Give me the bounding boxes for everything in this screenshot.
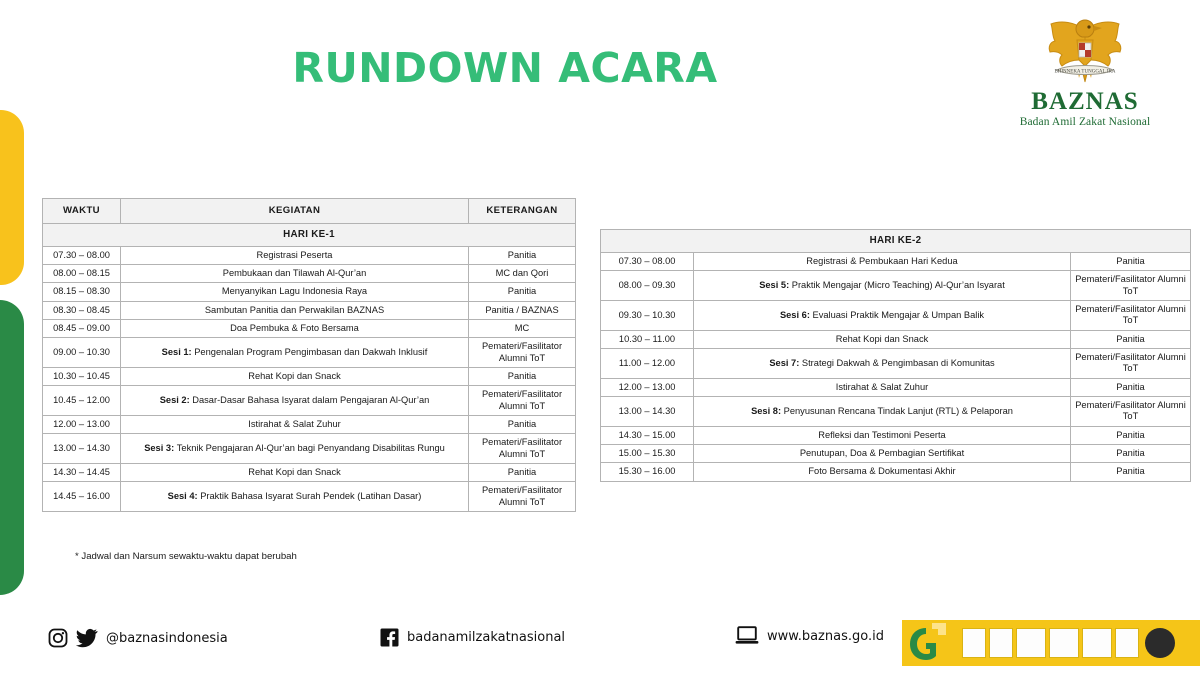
cell-kegiatan: Istirahat & Salat Zuhur [694, 378, 1071, 396]
baznas-logo: BHINNEKA TUNGGAL IKA BAZNAS Badan Amil Z… [1010, 14, 1160, 128]
table-row: 10.45 – 12.00Sesi 2: Dasar-Dasar Bahasa … [43, 386, 576, 416]
garuda-emblem-icon: BHINNEKA TUNGGAL IKA [1039, 14, 1131, 88]
cell-keterangan: Pemateri/Fasilitator Alumni ToT [469, 338, 576, 368]
cell-kegiatan: Sesi 2: Dasar-Dasar Bahasa Isyarat dalam… [121, 386, 469, 416]
session-label: Sesi 4: [168, 491, 201, 501]
svg-text:BHINNEKA TUNGGAL IKA: BHINNEKA TUNGGAL IKA [1054, 70, 1115, 75]
cert-chip-1 [962, 628, 986, 658]
footer-instagram-handle: @baznasindonesia [106, 631, 228, 646]
cell-waktu: 10.30 – 11.00 [601, 330, 694, 348]
cell-keterangan: Pemateri/Fasilitator Alumni ToT [469, 482, 576, 512]
cell-kegiatan: Sesi 3: Teknik Pengajaran Al-Qur’an bagi… [121, 434, 469, 464]
cell-keterangan: Pemateri/Fasilitator Alumni ToT [1071, 271, 1191, 301]
cell-waktu: 08.00 – 09.30 [601, 271, 694, 301]
cell-keterangan: Panitia [469, 283, 576, 301]
table-row: 08.00 – 08.15Pembukaan dan Tilawah Al-Qu… [43, 264, 576, 282]
cell-waktu: 13.00 – 14.30 [601, 396, 694, 426]
cell-kegiatan: Registrasi Peserta [121, 246, 469, 264]
cell-kegiatan: Penutupan, Doa & Pembagian Sertifikat [694, 444, 1071, 462]
cell-waktu: 15.00 – 15.30 [601, 444, 694, 462]
cell-keterangan: Panitia [1071, 444, 1191, 462]
table-row: 13.00 – 14.30Sesi 3: Teknik Pengajaran A… [43, 434, 576, 464]
table-row: 10.30 – 11.00Rehat Kopi dan SnackPanitia [601, 330, 1191, 348]
table-row: 13.00 – 14.30Sesi 8: Penyusunan Rencana … [601, 396, 1191, 426]
table-row: 10.30 – 10.45Rehat Kopi dan SnackPanitia [43, 367, 576, 385]
cell-keterangan: Panitia [469, 463, 576, 481]
cell-waktu: 10.45 – 12.00 [43, 386, 121, 416]
rundown-table-day1: WAKTU KEGIATAN KETERANGAN HARI KE-1 07.3… [42, 198, 576, 512]
cell-keterangan: Panitia [469, 246, 576, 264]
cell-waktu: 12.00 – 13.00 [43, 415, 121, 433]
cell-waktu: 15.30 – 16.00 [601, 463, 694, 481]
cell-waktu: 09.00 – 10.30 [43, 338, 121, 368]
cell-keterangan: Panitia [1071, 252, 1191, 270]
slide-canvas: RUNDOWN ACARA BHINNEKA TUNGGAL IKA BAZNA… [0, 0, 1200, 675]
cell-waktu: 07.30 – 08.00 [43, 246, 121, 264]
cell-kegiatan: Pembukaan dan Tilawah Al-Qur’an [121, 264, 469, 282]
audited-seal-icon [1145, 628, 1175, 658]
session-label: Sesi 7: [769, 358, 802, 368]
logo-brand-text: BAZNAS [1010, 89, 1160, 115]
cert-chip-3 [1016, 628, 1046, 658]
cell-kegiatan: Refleksi dan Testimoni Peserta [694, 426, 1071, 444]
cell-kegiatan: Sambutan Panitia dan Perwakilan BAZNAS [121, 301, 469, 319]
cell-kegiatan: Sesi 7: Strategi Dakwah & Pengimbasan di… [694, 348, 1071, 378]
cell-waktu: 14.45 – 16.00 [43, 482, 121, 512]
table-row: 12.00 – 13.00Istirahat & Salat ZuhurPani… [601, 378, 1191, 396]
table-row: 07.30 – 08.00Registrasi & Pembukaan Hari… [601, 252, 1191, 270]
cell-kegiatan: Menyanyikan Lagu Indonesia Raya [121, 283, 469, 301]
cell-waktu: 11.00 – 12.00 [601, 348, 694, 378]
cell-keterangan: MC [469, 319, 576, 337]
cell-keterangan: Pemateri/Fasilitator Alumni ToT [1071, 348, 1191, 378]
cell-keterangan: MC dan Qori [469, 264, 576, 282]
table-row: 14.30 – 15.00Refleksi dan Testimoni Pese… [601, 426, 1191, 444]
day-label-day1: HARI KE-1 [43, 223, 576, 246]
session-label: Sesi 8: [751, 406, 784, 416]
decorative-yellow-shape [0, 110, 24, 285]
certification-chips [958, 628, 1139, 658]
table-row: 15.00 – 15.30Penutupan, Doa & Pembagian … [601, 444, 1191, 462]
cell-waktu: 14.30 – 14.45 [43, 463, 121, 481]
cell-keterangan: Pemateri/Fasilitator Alumni ToT [1071, 300, 1191, 330]
day-label-row: HARI KE-2 [601, 230, 1191, 253]
cell-keterangan: Panitia [469, 367, 576, 385]
cell-kegiatan: Sesi 8: Penyusunan Rencana Tindak Lanjut… [694, 396, 1071, 426]
page-title: RUNDOWN ACARA [0, 44, 1010, 92]
g-logo-icon [902, 620, 958, 666]
cell-waktu: 14.30 – 15.00 [601, 426, 694, 444]
twitter-icon [76, 628, 98, 648]
table-body-day1: 07.30 – 08.00Registrasi PesertaPanitia08… [43, 246, 576, 511]
cell-kegiatan: Registrasi & Pembukaan Hari Kedua [694, 252, 1071, 270]
table-row: 12.00 – 13.00Istirahat & Salat ZuhurPani… [43, 415, 576, 433]
rundown-table-day2: HARI KE-2 07.30 – 08.00Registrasi & Pemb… [600, 229, 1191, 482]
decorative-green-shape [0, 300, 24, 595]
table-row: 08.15 – 08.30Menyanyikan Lagu Indonesia … [43, 283, 576, 301]
cell-kegiatan: Sesi 5: Praktik Mengajar (Micro Teaching… [694, 271, 1071, 301]
session-label: Sesi 1: [162, 347, 195, 357]
cell-waktu: 07.30 – 08.00 [601, 252, 694, 270]
cert-chip-4 [1049, 628, 1079, 658]
cert-chip-6 [1115, 628, 1139, 658]
cell-kegiatan: Foto Bersama & Dokumentasi Akhir [694, 463, 1071, 481]
session-label: Sesi 5: [759, 280, 792, 290]
session-label: Sesi 3: [144, 443, 177, 453]
column-header-kegiatan: KEGIATAN [121, 199, 469, 224]
table-row: 09.00 – 10.30Sesi 1: Pengenalan Program … [43, 338, 576, 368]
table-row: 08.45 – 09.00Doa Pembuka & Foto BersamaM… [43, 319, 576, 337]
footer-website[interactable]: www.baznas.go.id [735, 626, 884, 646]
cell-kegiatan: Sesi 1: Pengenalan Program Pengimbasan d… [121, 338, 469, 368]
cell-waktu: 08.15 – 08.30 [43, 283, 121, 301]
cell-kegiatan: Istirahat & Salat Zuhur [121, 415, 469, 433]
column-header-keterangan: KETERANGAN [469, 199, 576, 224]
cell-waktu: 13.00 – 14.30 [43, 434, 121, 464]
day-label-row: HARI KE-1 [43, 223, 576, 246]
table-row: 14.30 – 14.45Rehat Kopi dan SnackPanitia [43, 463, 576, 481]
facebook-icon [380, 628, 399, 647]
cert-chip-5 [1082, 628, 1112, 658]
cell-keterangan: Pemateri/Fasilitator Alumni ToT [1071, 396, 1191, 426]
cell-kegiatan: Rehat Kopi dan Snack [121, 367, 469, 385]
table-body-day2: 07.30 – 08.00Registrasi & Pembukaan Hari… [601, 252, 1191, 481]
table-row: 07.30 – 08.00Registrasi PesertaPanitia [43, 246, 576, 264]
session-label: Sesi 6: [780, 310, 813, 320]
cell-kegiatan: Sesi 4: Praktik Bahasa Isyarat Surah Pen… [121, 482, 469, 512]
cell-keterangan: Panitia [1071, 463, 1191, 481]
session-label: Sesi 2: [160, 395, 193, 405]
day-label-day2: HARI KE-2 [601, 230, 1191, 253]
laptop-icon [735, 626, 759, 646]
footer-website-url: www.baznas.go.id [767, 629, 884, 644]
footer-social-instagram-twitter[interactable]: @baznasindonesia [48, 628, 228, 648]
instagram-icon [48, 628, 68, 648]
cell-kegiatan: Sesi 6: Evaluasi Praktik Mengajar & Umpa… [694, 300, 1071, 330]
cell-waktu: 09.30 – 10.30 [601, 300, 694, 330]
footer-facebook-handle: badanamilzakatnasional [407, 630, 565, 645]
cell-waktu: 08.30 – 08.45 [43, 301, 121, 319]
certification-banner [902, 620, 1200, 666]
cell-keterangan: Panitia [1071, 426, 1191, 444]
table-row: 08.30 – 08.45Sambutan Panitia dan Perwak… [43, 301, 576, 319]
cell-keterangan: Panitia [1071, 330, 1191, 348]
cell-keterangan: Pemateri/Fasilitator Alumni ToT [469, 386, 576, 416]
cell-kegiatan: Rehat Kopi dan Snack [121, 463, 469, 481]
cell-waktu: 12.00 – 13.00 [601, 378, 694, 396]
cell-keterangan: Panitia [469, 415, 576, 433]
cell-waktu: 08.00 – 08.15 [43, 264, 121, 282]
cell-waktu: 10.30 – 10.45 [43, 367, 121, 385]
table-row: 09.30 – 10.30Sesi 6: Evaluasi Praktik Me… [601, 300, 1191, 330]
cell-kegiatan: Doa Pembuka & Foto Bersama [121, 319, 469, 337]
cell-keterangan: Panitia / BAZNAS [469, 301, 576, 319]
table-row: 14.45 – 16.00Sesi 4: Praktik Bahasa Isya… [43, 482, 576, 512]
footnote: * Jadwal dan Narsum sewaktu-waktu dapat … [75, 551, 297, 562]
cell-kegiatan: Rehat Kopi dan Snack [694, 330, 1071, 348]
table-row: 15.30 – 16.00Foto Bersama & Dokumentasi … [601, 463, 1191, 481]
table-header-row: WAKTU KEGIATAN KETERANGAN [43, 199, 576, 224]
column-header-waktu: WAKTU [43, 199, 121, 224]
cell-keterangan: Pemateri/Fasilitator Alumni ToT [469, 434, 576, 464]
table-row: 11.00 – 12.00Sesi 7: Strategi Dakwah & P… [601, 348, 1191, 378]
cell-waktu: 08.45 – 09.00 [43, 319, 121, 337]
footer-social-facebook[interactable]: badanamilzakatnasional [380, 628, 565, 647]
cert-chip-2 [989, 628, 1013, 658]
table-row: 08.00 – 09.30Sesi 5: Praktik Mengajar (M… [601, 271, 1191, 301]
cell-keterangan: Panitia [1071, 378, 1191, 396]
logo-tagline-text: Badan Amil Zakat Nasional [1010, 116, 1160, 128]
